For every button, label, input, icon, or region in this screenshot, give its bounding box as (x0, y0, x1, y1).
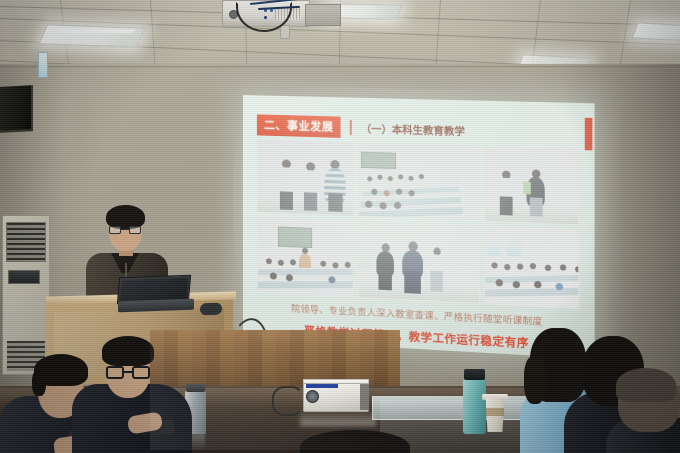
teal-thermos[interactable] (463, 378, 486, 434)
slide-photo-3 (484, 146, 580, 225)
ac-energy-label (38, 52, 48, 78)
slide-photo-2 (358, 142, 480, 221)
slide-photo-5 (358, 221, 480, 304)
projector-mount-bracket (305, 4, 341, 26)
laptop-screen (120, 278, 188, 301)
presenter-glasses-icon (109, 226, 141, 234)
projector-blue-trim (306, 384, 338, 388)
wall-speaker (0, 85, 33, 133)
audience-right-3 (614, 368, 680, 453)
projector-reflection (300, 410, 376, 426)
desktop-projector-lens-icon (306, 390, 319, 403)
ac-brand-mark (29, 271, 41, 283)
projection-screen: 二、事业发展 （一）本科生教育教学 (243, 95, 595, 359)
slide-subtitle: （一）本科生教育教学 (350, 120, 465, 139)
ceiling-light-panel (38, 24, 145, 47)
audience-right-4 (300, 430, 420, 453)
conference-room-photo: 二、事业发展 （一）本科生教育教学 (0, 0, 680, 453)
slide-photo-grid (257, 139, 579, 309)
projector-ceiling-mount (280, 25, 290, 39)
audience-left-2 (78, 336, 198, 453)
slide-photo-6 (484, 226, 580, 309)
slide-header: 二、事业发展 （一）本科生教育教学 (257, 115, 582, 143)
laptop-accessory[interactable] (200, 303, 222, 316)
audience-left-2-glasses-icon (106, 366, 150, 379)
slide-section-tag: 二、事业发展 (257, 114, 341, 137)
presentation-slide: 二、事业发展 （一）本科生教育教学 (243, 95, 595, 359)
ceiling-light-panel (632, 22, 680, 41)
slide-photo-1 (257, 139, 354, 216)
teal-thermos-lid (464, 369, 485, 380)
ac-upper-grille (6, 222, 46, 262)
slide-accent-bar (585, 118, 593, 151)
projector-rear-panel (360, 384, 369, 410)
air-conditioner[interactable] (2, 215, 50, 375)
slide-photo-4 (257, 217, 354, 298)
paper-cup-sleeve (486, 408, 504, 416)
